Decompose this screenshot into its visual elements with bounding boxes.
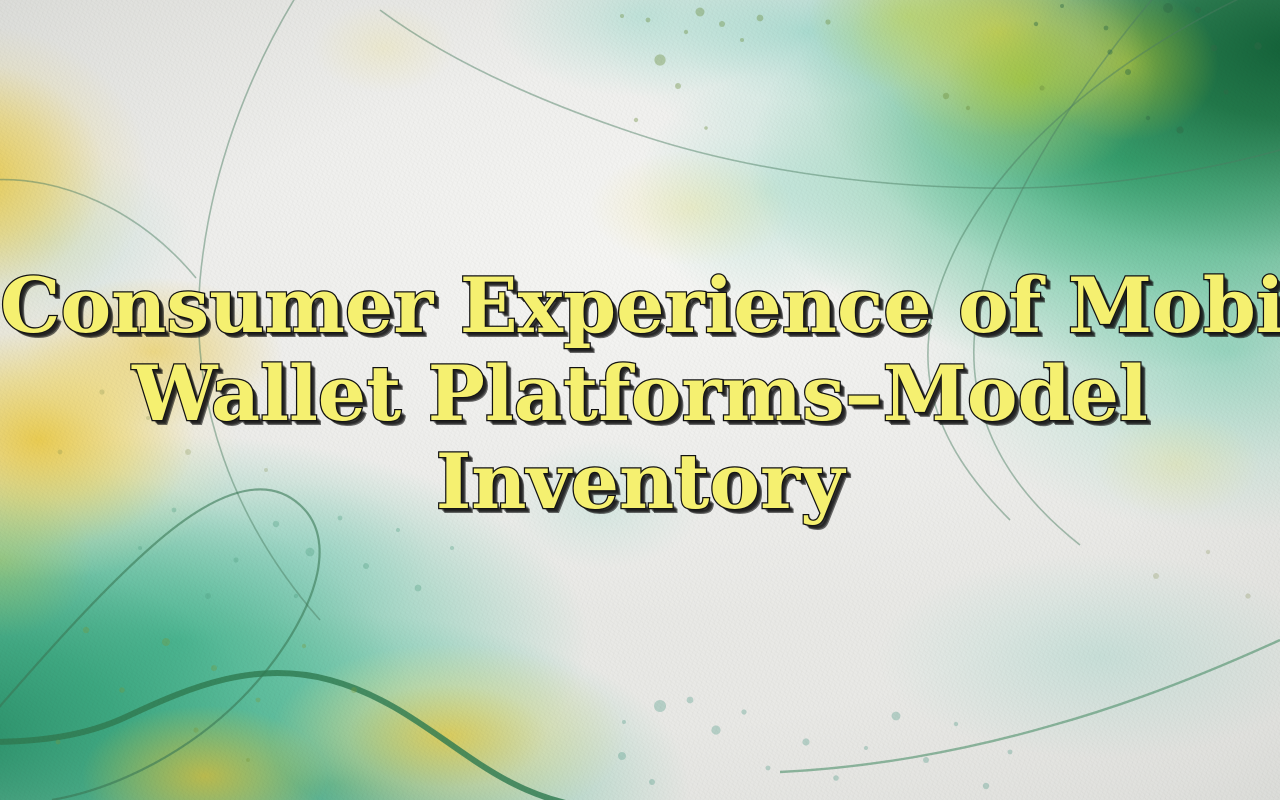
page-title: Consumer Experience of Mobile Wallet Pla… bbox=[0, 262, 1280, 526]
title-line-3: Inventory bbox=[0, 438, 1280, 526]
title-line-2: Wallet Platforms–Model bbox=[0, 350, 1280, 438]
title-line-1: Consumer Experience of Mobile bbox=[0, 262, 1280, 350]
title-banner: Consumer Experience of Mobile Wallet Pla… bbox=[0, 0, 1280, 800]
